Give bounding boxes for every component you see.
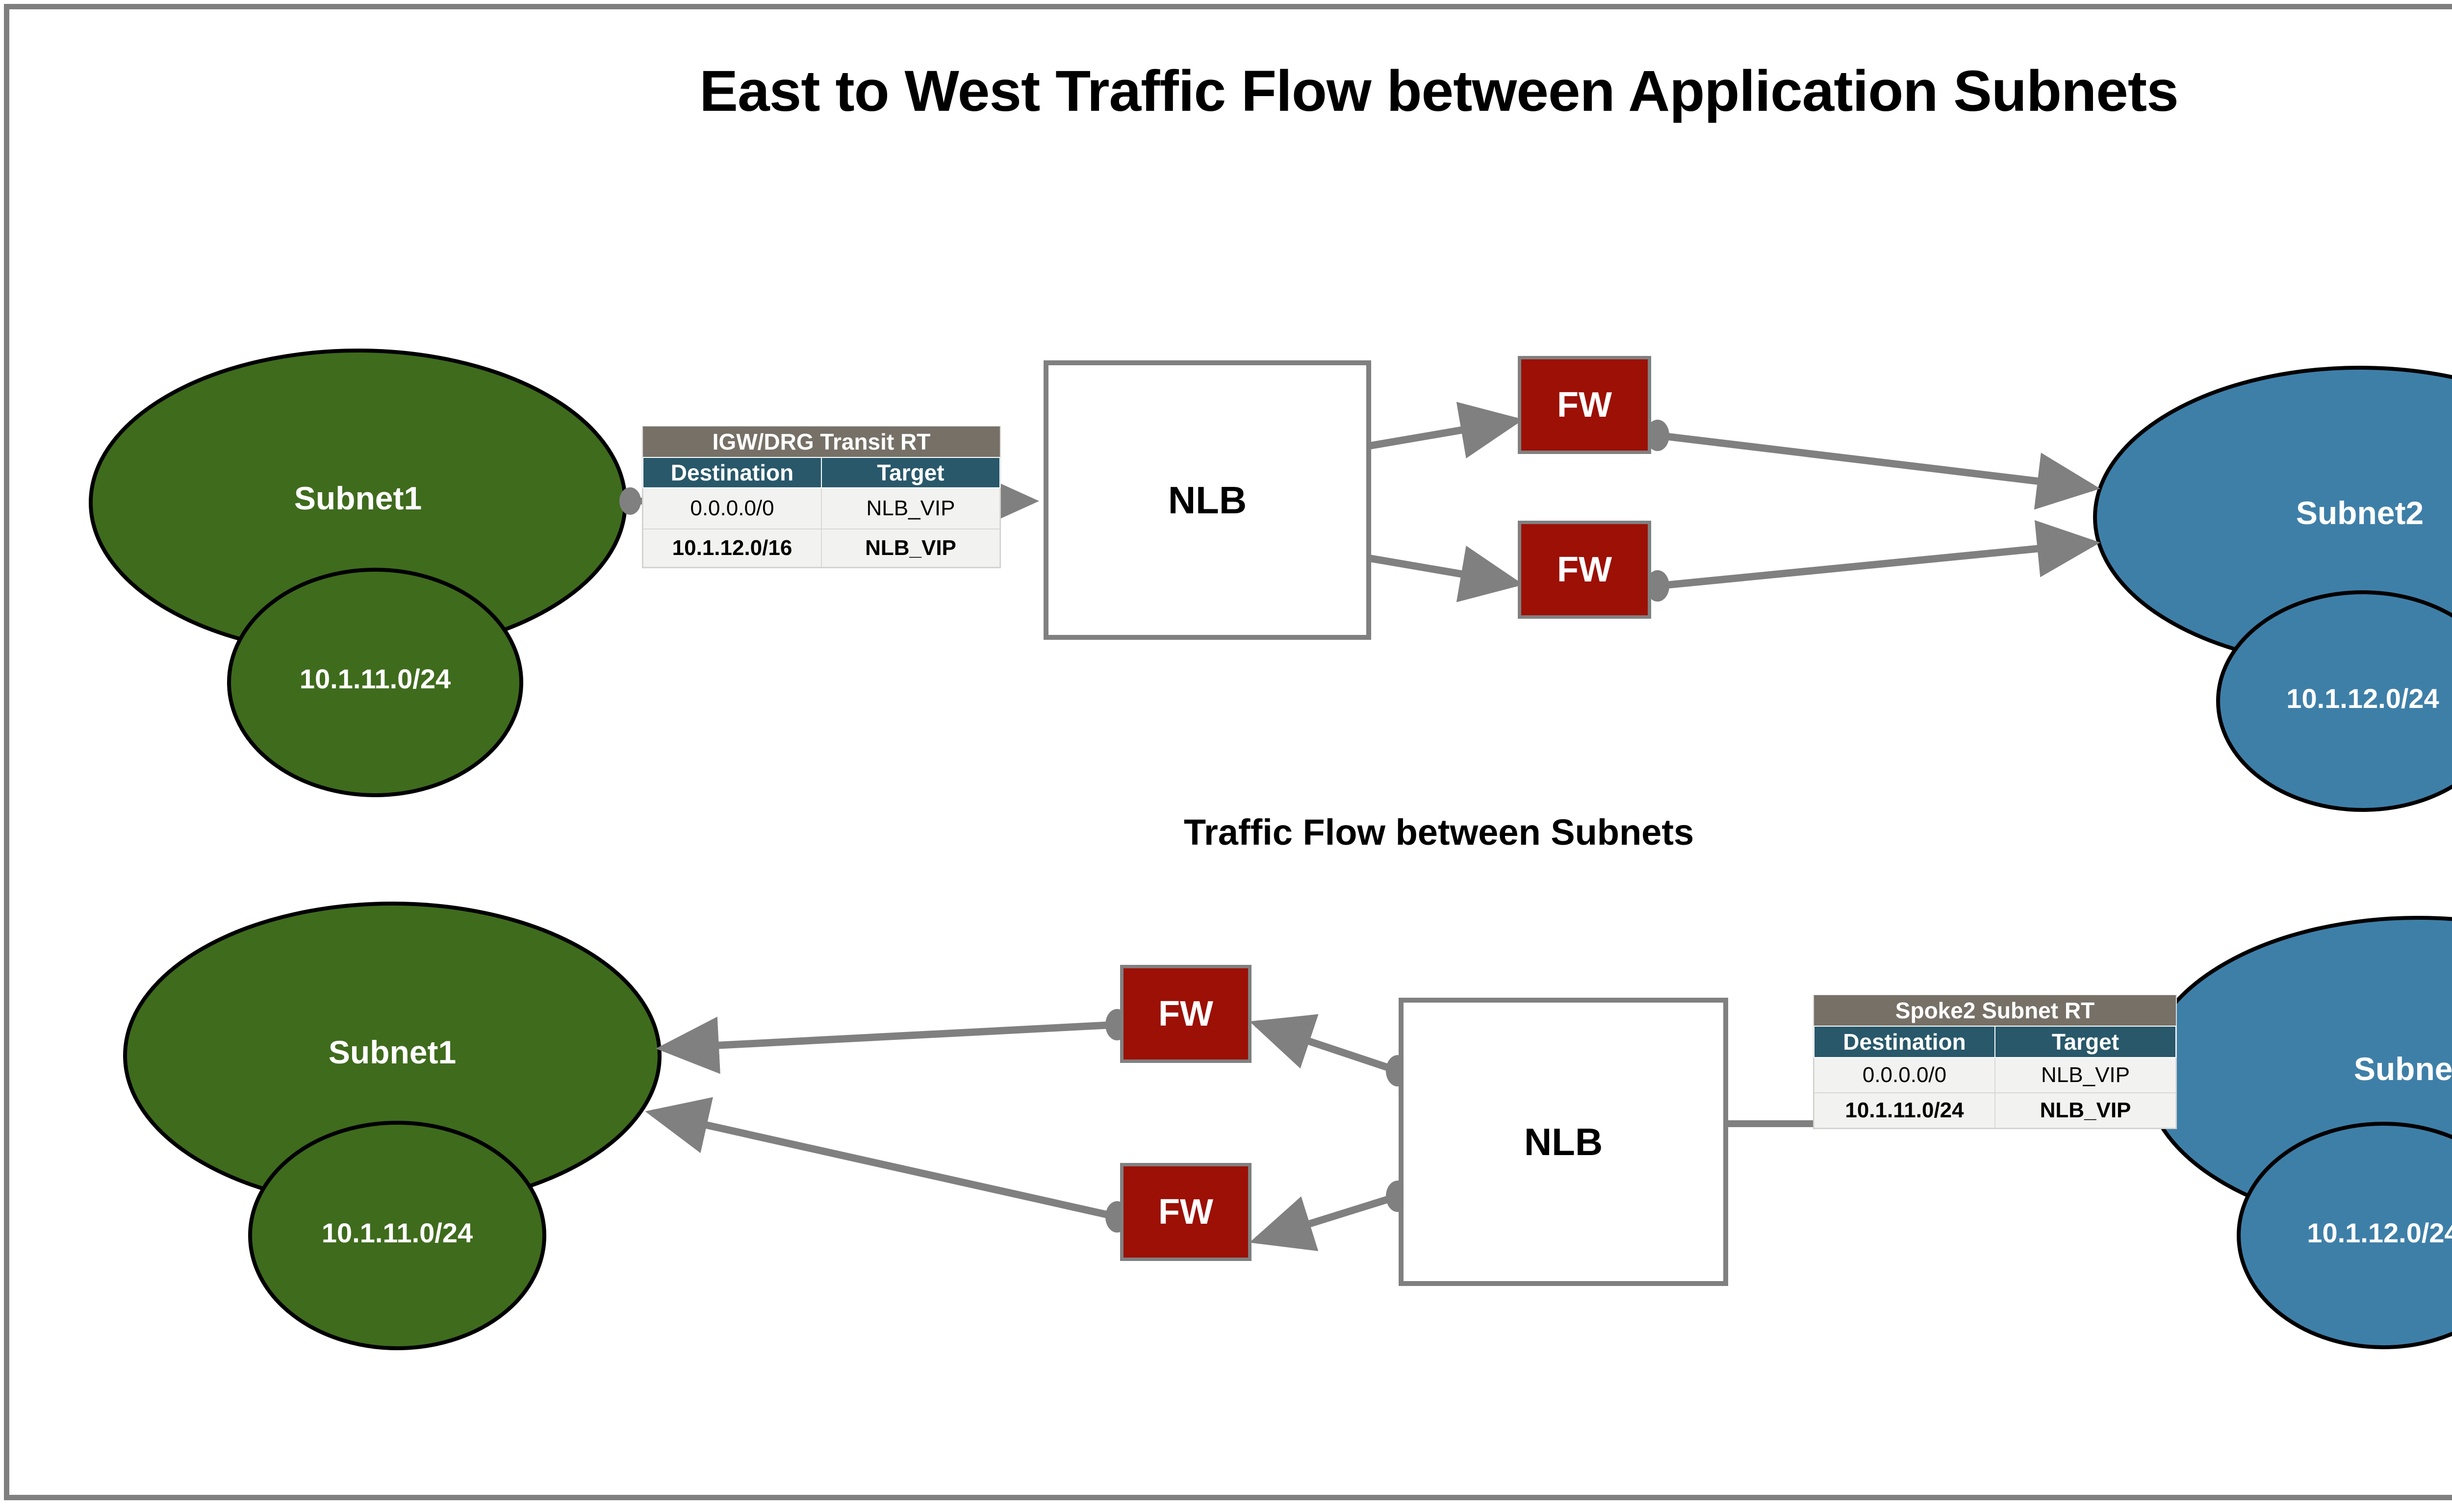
route-target: NLB_VIP bbox=[821, 488, 1000, 529]
table-header-row: Destination Target bbox=[643, 457, 1000, 488]
page-title: East to West Traffic Flow between Applic… bbox=[0, 58, 2452, 125]
top-subnet1-cidr-label: 10.1.11.0/24 bbox=[204, 663, 547, 695]
bottom-conn-fw2-subnet1 bbox=[652, 1113, 1117, 1217]
top-subnet2-cidr-label: 10.1.12.0/24 bbox=[2191, 682, 2452, 714]
top-nlb-box[interactable]: NLB bbox=[1044, 360, 1371, 640]
bottom-conn-nlb-fw2 bbox=[1256, 1196, 1398, 1240]
spoke2-subnet-route-table: Spoke2 Subnet RT Destination Target 0.0.… bbox=[1813, 995, 2176, 1129]
top-conn-fw2-subnet2 bbox=[1658, 543, 2093, 586]
route-target: NLB_VIP bbox=[1995, 1058, 2176, 1093]
bottom-conn-fw1-subnet1 bbox=[663, 1025, 1117, 1048]
bottom-firewall-label-2: FW bbox=[1158, 1192, 1213, 1232]
table-row: 0.0.0.0/0 NLB_VIP bbox=[1814, 1058, 2176, 1093]
top-firewall-label-2: FW bbox=[1557, 550, 1612, 590]
column-header-target: Target bbox=[821, 457, 1000, 488]
column-header-destination: Destination bbox=[643, 457, 821, 488]
route-destination: 0.0.0.0/0 bbox=[1814, 1058, 1995, 1093]
bottom-firewall-box-1[interactable]: FW bbox=[1120, 965, 1252, 1063]
top-conn-subnet1-endpoint bbox=[619, 487, 641, 515]
bottom-firewall-box-2[interactable]: FW bbox=[1120, 1163, 1252, 1261]
bottom-firewall-label-1: FW bbox=[1158, 994, 1213, 1034]
route-destination: 0.0.0.0/0 bbox=[643, 488, 821, 529]
route-table-title: Spoke2 Subnet RT bbox=[1814, 995, 2176, 1026]
bottom-nlb-box[interactable]: NLB bbox=[1399, 998, 1728, 1286]
table-row: 10.1.12.0/16 NLB_VIP bbox=[643, 529, 1000, 567]
column-header-target: Target bbox=[1995, 1026, 2176, 1058]
table-row: 10.1.11.0/24 NLB_VIP bbox=[1814, 1093, 2176, 1128]
igw-drg-transit-route-table: IGW/DRG Transit RT Destination Target 0.… bbox=[642, 427, 1000, 568]
bottom-nlb-label: NLB bbox=[1524, 1120, 1603, 1164]
top-nlb-label: NLB bbox=[1168, 478, 1247, 523]
route-destination: 10.1.11.0/24 bbox=[1814, 1093, 1995, 1128]
bottom-conn-nlb-fw1 bbox=[1256, 1024, 1398, 1071]
top-conn-fw1-subnet2 bbox=[1658, 435, 2093, 488]
route-target: NLB_VIP bbox=[821, 529, 1000, 567]
top-firewall-box-2[interactable]: FW bbox=[1518, 521, 1651, 619]
bottom-subnet1-label: Subnet1 bbox=[196, 1033, 588, 1071]
table-header-row: Destination Target bbox=[1814, 1026, 2176, 1058]
top-firewall-box-1[interactable]: FW bbox=[1518, 356, 1651, 454]
bottom-subnet2-cidr-label: 10.1.12.0/24 bbox=[2212, 1217, 2452, 1249]
column-header-destination: Destination bbox=[1814, 1026, 1995, 1058]
route-table-title: IGW/DRG Transit RT bbox=[643, 427, 1000, 457]
route-target: NLB_VIP bbox=[1995, 1093, 2176, 1128]
section-subtitle: Traffic Flow between Subnets bbox=[0, 811, 2452, 853]
bottom-subnet2-label: Subnet2 bbox=[2222, 1050, 2452, 1087]
route-destination: 10.1.12.0/16 bbox=[643, 529, 821, 567]
top-subnet2-label: Subnet2 bbox=[2164, 494, 2452, 531]
table-title-row: IGW/DRG Transit RT bbox=[643, 427, 1000, 457]
connector-layer bbox=[0, 0, 2452, 1512]
top-subnet1-label: Subnet1 bbox=[162, 479, 554, 517]
table-title-row: Spoke2 Subnet RT bbox=[1814, 995, 2176, 1026]
table-row: 0.0.0.0/0 NLB_VIP bbox=[643, 488, 1000, 529]
diagram-canvas: East to West Traffic Flow between Applic… bbox=[0, 0, 2452, 1512]
bottom-subnet1-cidr-label: 10.1.11.0/24 bbox=[226, 1217, 569, 1249]
top-firewall-label-1: FW bbox=[1557, 385, 1612, 425]
